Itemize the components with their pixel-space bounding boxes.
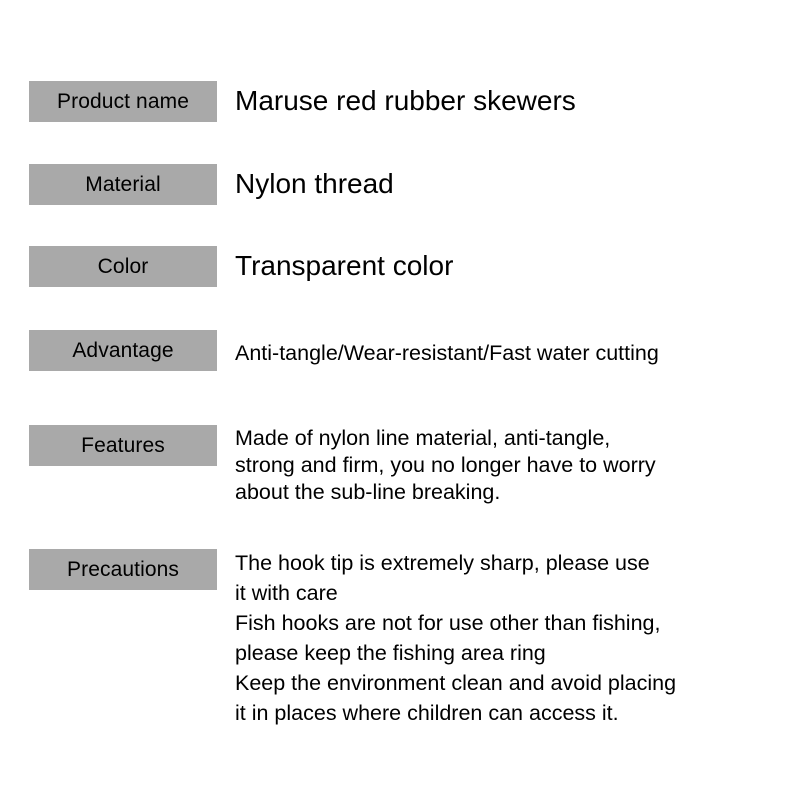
spec-row: Advantage Anti-tangle/Wear-resistant/Fas… [0, 330, 800, 371]
spec-row: Precautions The hook tip is extremely sh… [0, 549, 800, 590]
spec-label-product-name: Product name [29, 81, 217, 122]
spec-label-material: Material [29, 164, 217, 205]
spec-label-precautions: Precautions [29, 549, 217, 590]
spec-label-advantage: Advantage [29, 330, 217, 371]
spec-value-color: Transparent color [235, 249, 453, 283]
spec-label-color: Color [29, 246, 217, 287]
spec-label-features: Features [29, 425, 217, 466]
spec-row: Features Made of nylon line material, an… [0, 425, 800, 466]
spec-row: Product name Maruse red rubber skewers [0, 81, 800, 122]
spec-value-material: Nylon thread [235, 167, 394, 201]
spec-value-features: Made of nylon line material, anti-tangle… [235, 425, 656, 506]
product-specification-sheet: Product name Maruse red rubber skewers M… [0, 0, 800, 800]
spec-value-precautions: The hook tip is extremely sharp, please … [235, 548, 676, 728]
spec-value-advantage: Anti-tangle/Wear-resistant/Fast water cu… [235, 338, 659, 368]
spec-row: Color Transparent color [0, 246, 800, 287]
spec-value-product-name: Maruse red rubber skewers [235, 84, 576, 118]
spec-row: Material Nylon thread [0, 164, 800, 205]
